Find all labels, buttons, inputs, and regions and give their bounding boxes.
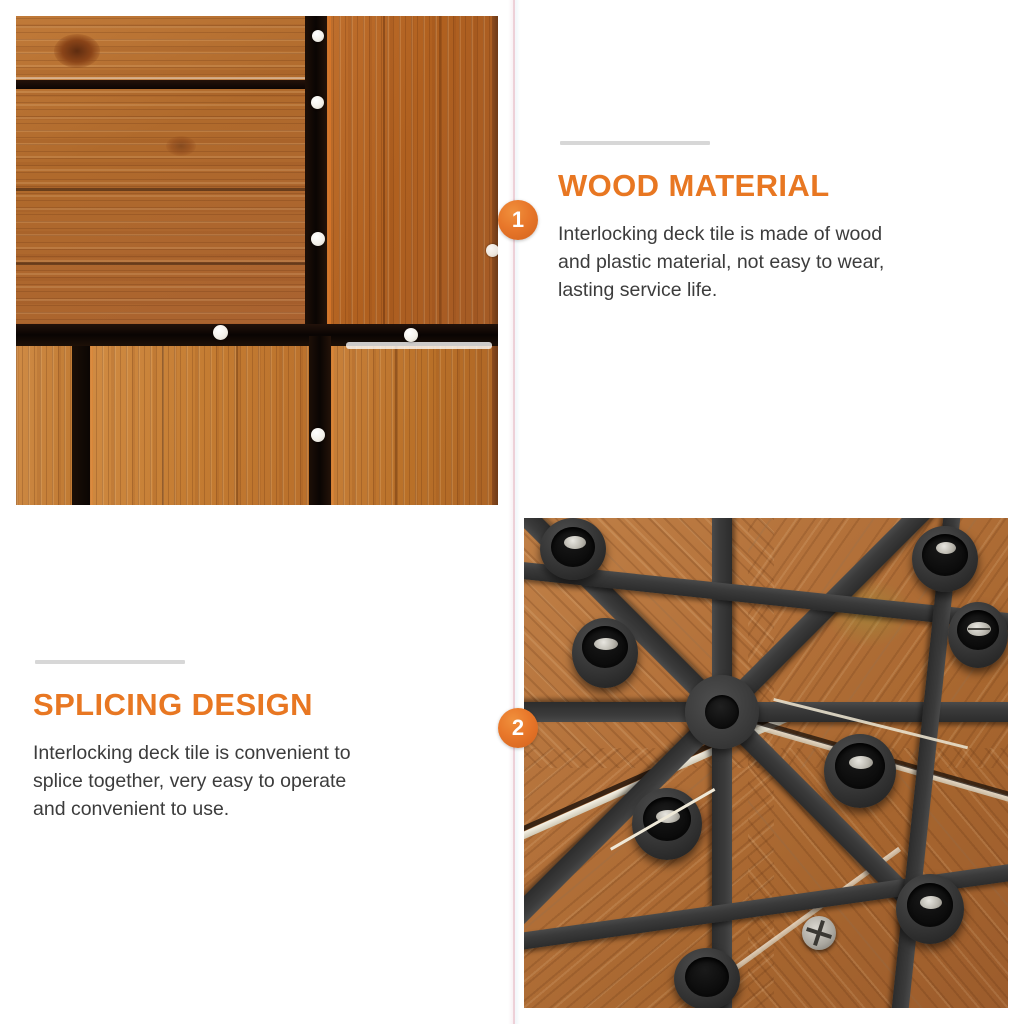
screw-socket	[572, 618, 638, 688]
screw-head-icon	[312, 30, 324, 42]
tile-edge-highlight	[327, 16, 331, 336]
screw-head-icon	[213, 325, 228, 340]
screw-head-icon	[849, 756, 873, 769]
feature-1-body-line: Interlocking deck tile is made of wood	[558, 220, 958, 248]
socket-inner-bore	[922, 534, 968, 576]
feature-1-body: Interlocking deck tile is made of wood a…	[558, 220, 958, 304]
plastic-spoke	[722, 702, 1008, 722]
wood-grain-texture	[90, 346, 309, 505]
screw-socket	[540, 518, 606, 580]
screw-socket	[632, 788, 702, 860]
feature-2-body-line: splice together, very easy to operate	[33, 767, 433, 795]
tile-seam-vertical	[309, 336, 331, 505]
plank-join	[395, 346, 397, 505]
screw-socket	[912, 526, 978, 592]
screw-head-icon	[404, 328, 418, 342]
screw-socket	[948, 602, 1008, 668]
feature-1-body-line: and plastic material, not easy to wear,	[558, 248, 958, 276]
screw-head-icon	[936, 542, 956, 554]
feature-2-body-line: and convenient to use.	[33, 795, 433, 823]
screw-slot	[968, 628, 990, 630]
tile-edge-highlight	[90, 346, 93, 505]
tile-upper-left	[16, 16, 312, 327]
screw-head-icon	[311, 232, 325, 246]
screw-socket	[896, 874, 964, 944]
feature-2-heading: SPLICING DESIGN	[33, 687, 313, 723]
plank-join	[383, 16, 385, 336]
tile-upper-right	[327, 16, 498, 336]
deck-tile-underside-photo	[524, 518, 1008, 1008]
plank-gap-highlight	[16, 77, 312, 79]
plank-gap	[16, 188, 312, 191]
screw-socket	[674, 948, 740, 1008]
feature-1-body-line: lasting service life.	[558, 276, 958, 304]
plank-join	[439, 16, 441, 336]
plank-join	[236, 346, 238, 505]
screw-head-icon	[594, 638, 618, 650]
phillips-screw-icon	[802, 916, 836, 950]
plank-join	[162, 346, 164, 505]
screw-head-icon	[311, 96, 324, 109]
feature-2-body: Interlocking deck tile is convenient to …	[33, 739, 433, 823]
plank-gap	[16, 80, 312, 89]
screw-socket	[824, 734, 896, 808]
infographic-page: WOOD MATERIAL Interlocking deck tile is …	[0, 0, 1024, 1024]
tile-lower-far-left	[16, 346, 72, 505]
feature-1-number-badge: 1	[498, 200, 538, 240]
deck-tile-surface-photo	[16, 16, 498, 505]
tile-seam-vertical	[305, 16, 327, 336]
vertical-divider	[513, 0, 515, 1024]
wood-grain-texture	[331, 346, 492, 505]
feature-1-rule	[560, 141, 710, 145]
wood-knot-icon	[166, 136, 196, 156]
feature-2-rule	[35, 660, 185, 664]
wood-knot-icon	[54, 34, 100, 68]
tile-edge-highlight	[331, 346, 334, 505]
photo-right-edge	[492, 16, 498, 505]
center-hub-hole	[705, 695, 739, 729]
tile-lower-middle	[90, 346, 309, 505]
socket-inner-bore	[685, 957, 729, 997]
plank-gap	[16, 262, 312, 265]
screw-head-icon	[920, 896, 942, 909]
tile-seam-vertical	[72, 346, 90, 505]
feature-1-heading: WOOD MATERIAL	[558, 168, 830, 204]
seam-highlight	[346, 342, 492, 349]
screw-head-icon	[486, 244, 498, 257]
screw-head-icon	[311, 428, 325, 442]
tile-lower-right	[331, 346, 492, 505]
feature-2-body-line: Interlocking deck tile is convenient to	[33, 739, 433, 767]
wood-grain-texture	[16, 346, 72, 505]
feature-2-number-badge: 2	[498, 708, 538, 748]
screw-head-icon	[564, 536, 586, 549]
wood-grain-texture	[327, 16, 498, 336]
